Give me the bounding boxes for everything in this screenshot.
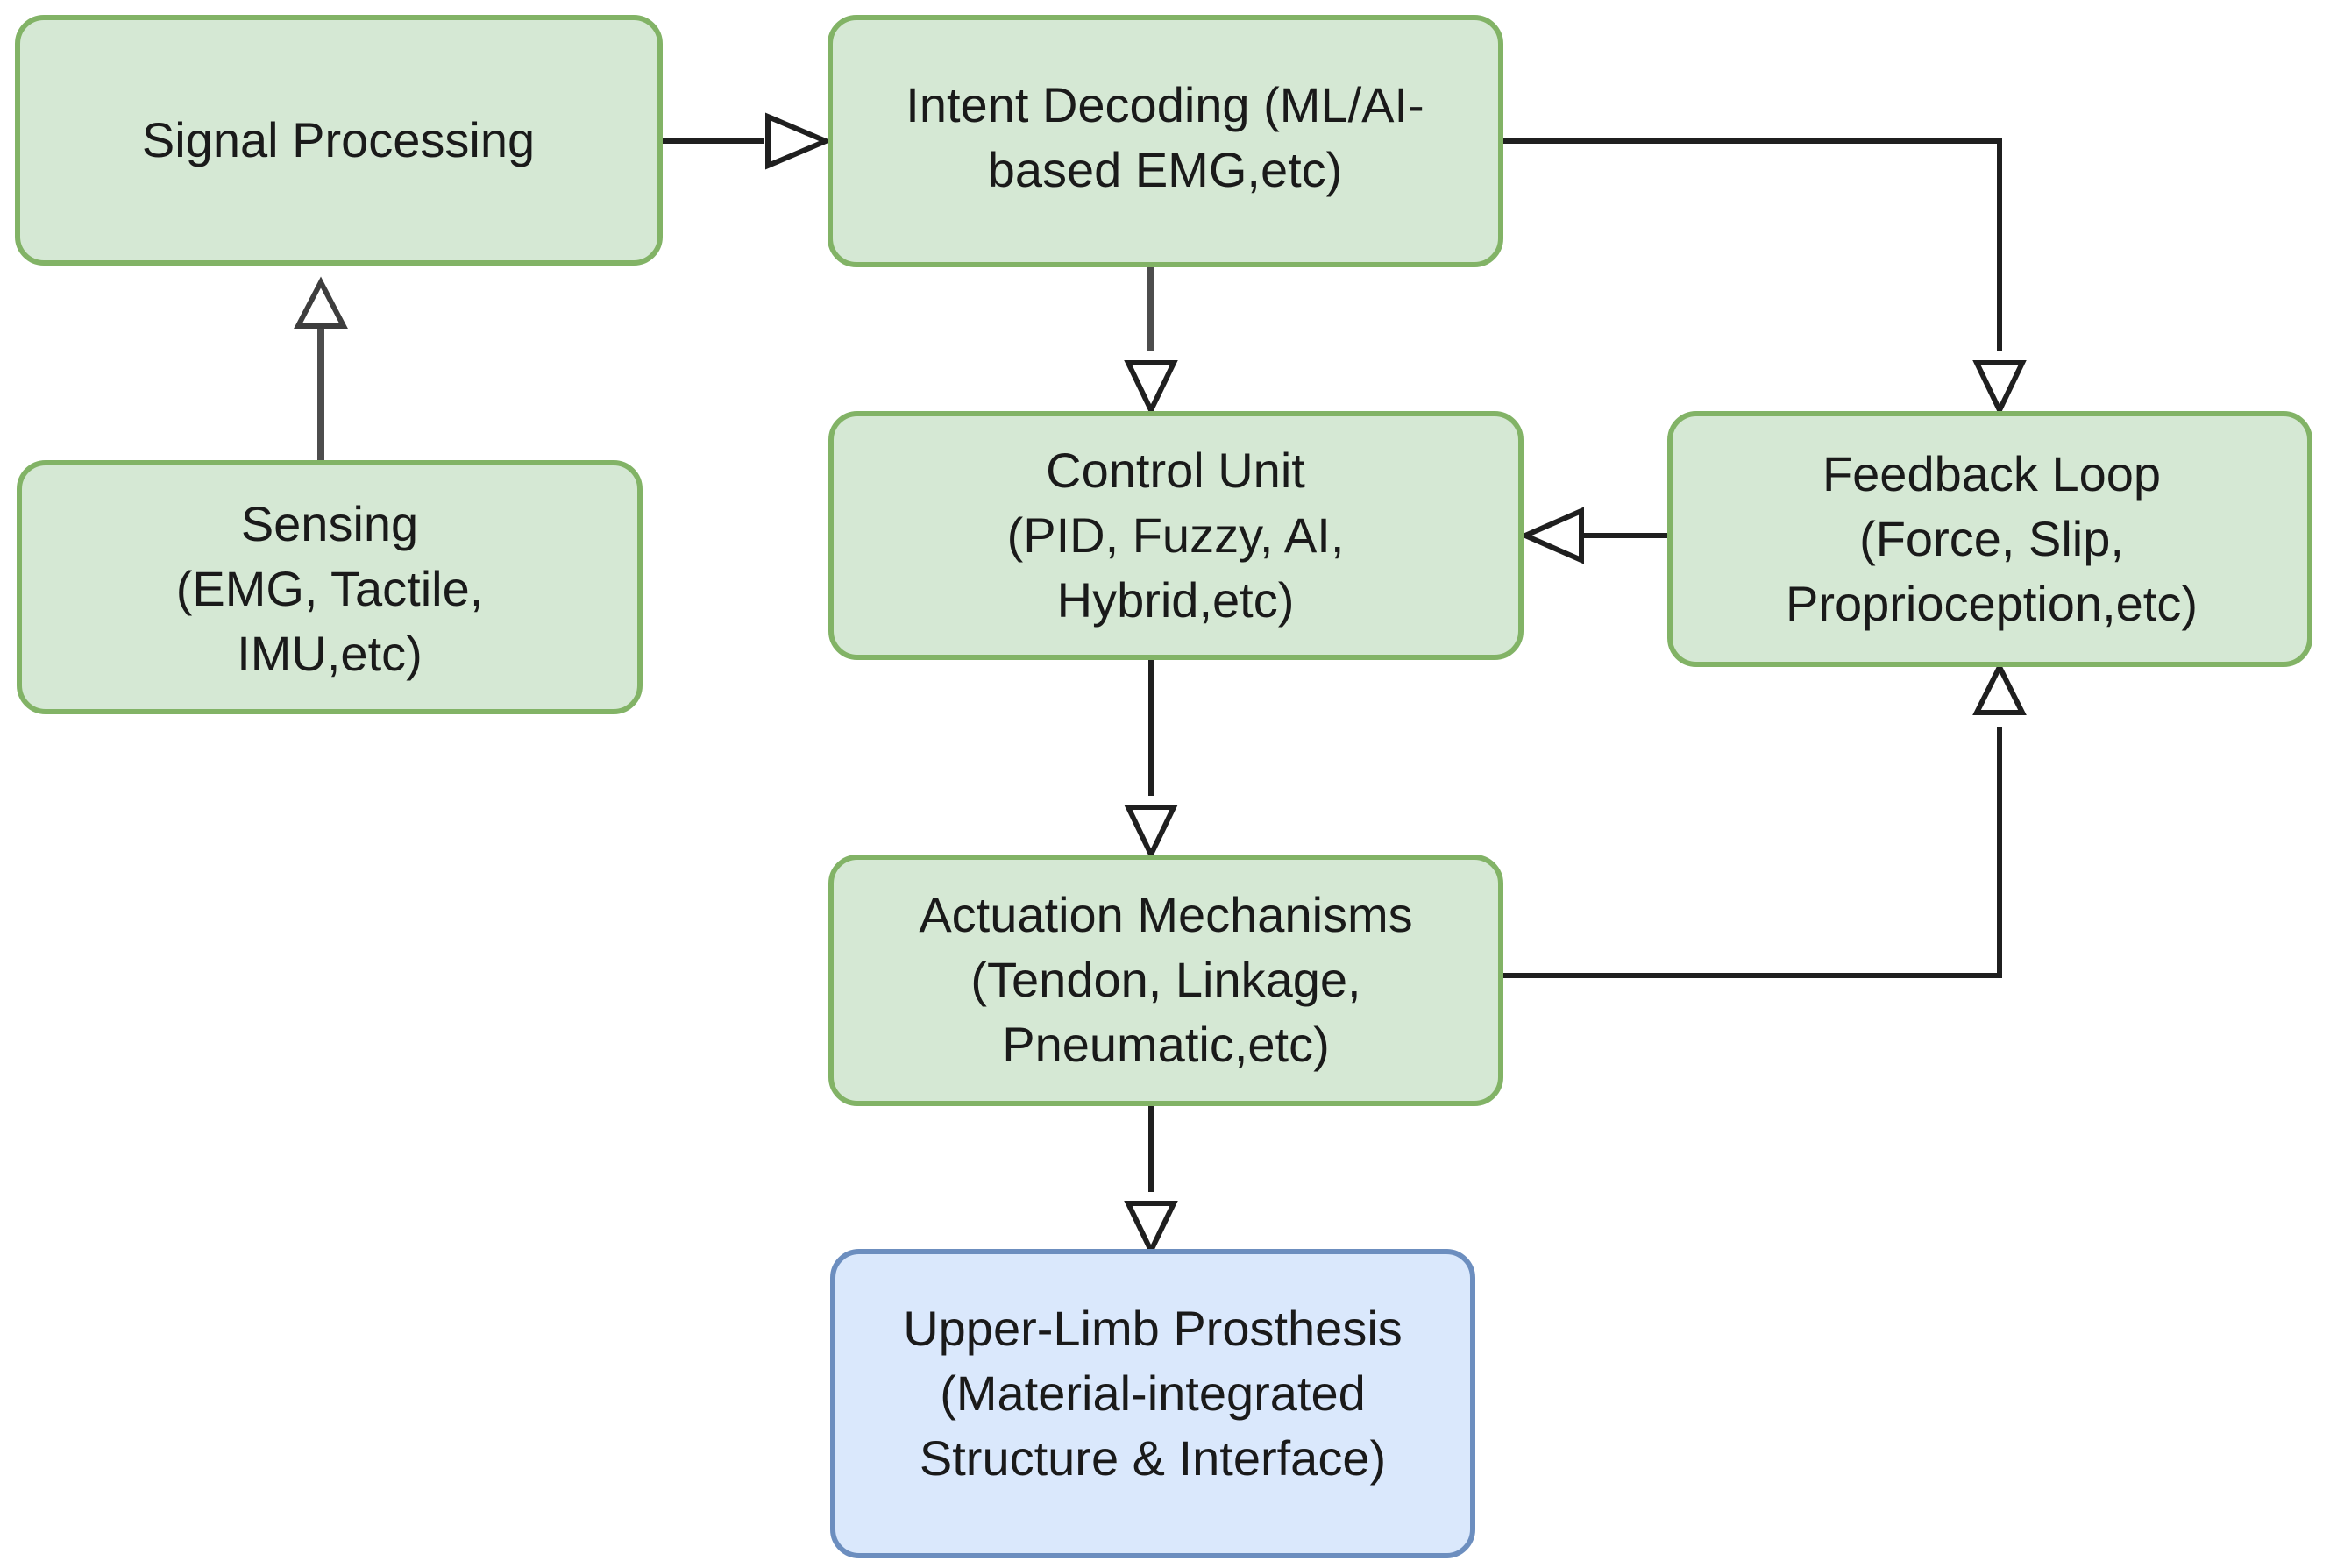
node-sensing[interactable]: Sensing (EMG, Tactile, IMU,etc) xyxy=(19,463,640,712)
edge-actuation-mechanisms-to-upper-limb-prosthesis xyxy=(1128,1103,1174,1251)
flowchart-canvas: Signal Processing Intent Decoding (ML/AI… xyxy=(0,0,2330,1568)
node-signal-processing[interactable]: Signal Processing xyxy=(18,18,660,263)
node-feedback-loop-label-line-2: (Force, Slip, xyxy=(1859,511,2124,566)
edge-control-unit-to-actuation-mechanisms xyxy=(1128,658,1174,855)
node-upper-limb-prosthesis-label-line-3: Structure & Interface) xyxy=(920,1430,1386,1486)
node-feedback-loop-label-line-3: Proprioception,etc) xyxy=(1786,576,2198,631)
edge-signal-processing-to-intent-decoding xyxy=(660,117,826,166)
node-control-unit[interactable]: Control Unit (PID, Fuzzy, AI, Hybrid,etc… xyxy=(831,414,1521,657)
edge-feedback-loop-to-control-unit xyxy=(1525,511,1670,560)
node-intent-decoding-label-line-1: Intent Decoding (ML/AI- xyxy=(906,77,1424,132)
node-control-unit-label-line-3: Hybrid,etc) xyxy=(1057,572,1295,628)
edge-sensing-to-signal-processing xyxy=(298,282,344,463)
node-feedback-loop[interactable]: Feedback Loop (Force, Slip, Propriocepti… xyxy=(1670,414,2310,664)
edge-intent-decoding-to-feedback-loop xyxy=(1501,141,2022,410)
node-actuation-mechanisms-label-line-1: Actuation Mechanisms xyxy=(919,887,1412,942)
edge-intent-decoding-to-control-unit xyxy=(1128,266,1174,410)
node-actuation-mechanisms[interactable]: Actuation Mechanisms (Tendon, Linkage, P… xyxy=(831,857,1501,1103)
node-sensing-label-line-3: IMU,etc) xyxy=(237,626,423,681)
node-upper-limb-prosthesis-label-line-1: Upper-Limb Prosthesis xyxy=(903,1301,1403,1356)
node-actuation-mechanisms-label-line-3: Pneumatic,etc) xyxy=(1002,1017,1330,1072)
node-feedback-loop-label-line-1: Feedback Loop xyxy=(1822,446,2161,501)
node-control-unit-label-line-2: (PID, Fuzzy, AI, xyxy=(1007,507,1345,563)
node-actuation-mechanisms-label-line-2: (Tendon, Linkage, xyxy=(970,952,1360,1007)
node-upper-limb-prosthesis[interactable]: Upper-Limb Prosthesis (Material-integrat… xyxy=(833,1252,1473,1556)
node-intent-decoding-label-line-2: based EMG,etc) xyxy=(988,142,1343,197)
node-sensing-label-line-2: (EMG, Tactile, xyxy=(176,561,484,616)
node-upper-limb-prosthesis-label-line-2: (Material-integrated xyxy=(940,1366,1366,1421)
edge-actuation-mechanisms-to-feedback-loop xyxy=(1501,667,2022,976)
node-control-unit-label-line-1: Control Unit xyxy=(1046,443,1305,498)
node-intent-decoding[interactable]: Intent Decoding (ML/AI- based EMG,etc) xyxy=(830,18,1501,265)
flowchart-svg: Signal Processing Intent Decoding (ML/AI… xyxy=(0,0,2330,1568)
node-signal-processing-label-line-1: Signal Processing xyxy=(142,112,535,167)
node-sensing-label-line-1: Sensing xyxy=(241,496,418,551)
